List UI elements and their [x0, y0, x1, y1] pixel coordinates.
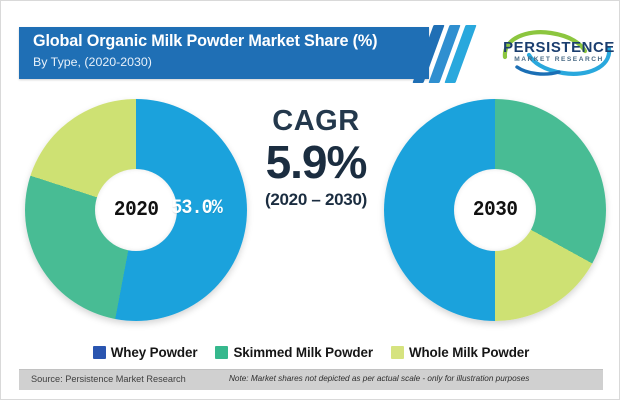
footer-source: Source: Persistence Market Research — [31, 374, 186, 384]
infographic-canvas: Global Organic Milk Powder Market Share … — [0, 0, 620, 400]
cagr-period: (2020 – 2030) — [243, 190, 389, 210]
legend-label-skimmed-milk-powder: Skimmed Milk Powder — [233, 345, 373, 360]
header: Global Organic Milk Powder Market Share … — [19, 27, 603, 79]
legend-item-skimmed-milk-powder: Skimmed Milk Powder — [215, 345, 373, 360]
header-bar: Global Organic Milk Powder Market Share … — [19, 27, 429, 79]
logo-tagline: MARKET RESEARCH — [501, 56, 617, 63]
footer-note: Note: Market shares not depicted as per … — [229, 374, 529, 383]
donut-hole-2030: 2030 — [454, 169, 536, 251]
footer: Source: Persistence Market Research Note… — [19, 369, 603, 390]
legend-label-whole-milk-powder: Whole Milk Powder — [409, 345, 529, 360]
brand-logo: PERSISTENCE MARKET RESEARCH — [493, 27, 620, 79]
legend-label-whey-powder: Whey Powder — [111, 345, 198, 360]
legend-item-whey-powder: Whey Powder — [93, 345, 198, 360]
donut-center-label-2030: 2030 — [473, 199, 518, 222]
page-title: Global Organic Milk Powder Market Share … — [33, 32, 377, 51]
donut-center-label-2020: 2020 — [114, 199, 159, 222]
legend-swatch-whey-powder — [93, 346, 106, 359]
data-label-2020: 53.0% — [171, 197, 222, 220]
chart-area: 2020 53.0% CAGR 5.9% (2020 – 2030) 2030 — [1, 89, 620, 339]
cagr-label: CAGR — [243, 107, 389, 136]
legend-item-whole-milk-powder: Whole Milk Powder — [391, 345, 529, 360]
cagr-block: CAGR 5.9% (2020 – 2030) — [243, 107, 389, 210]
legend-swatch-skimmed-milk-powder — [215, 346, 228, 359]
legend-swatch-whole-milk-powder — [391, 346, 404, 359]
page-subtitle: By Type, (2020-2030) — [33, 55, 152, 69]
donut-hole-2020: 2020 — [95, 169, 177, 251]
donut-chart-2030: 2030 — [384, 99, 606, 321]
logo-name: PERSISTENCE — [500, 40, 618, 56]
legend: Whey Powder Skimmed Milk Powder Whole Mi… — [1, 339, 620, 365]
cagr-value: 5.9% — [243, 138, 389, 186]
